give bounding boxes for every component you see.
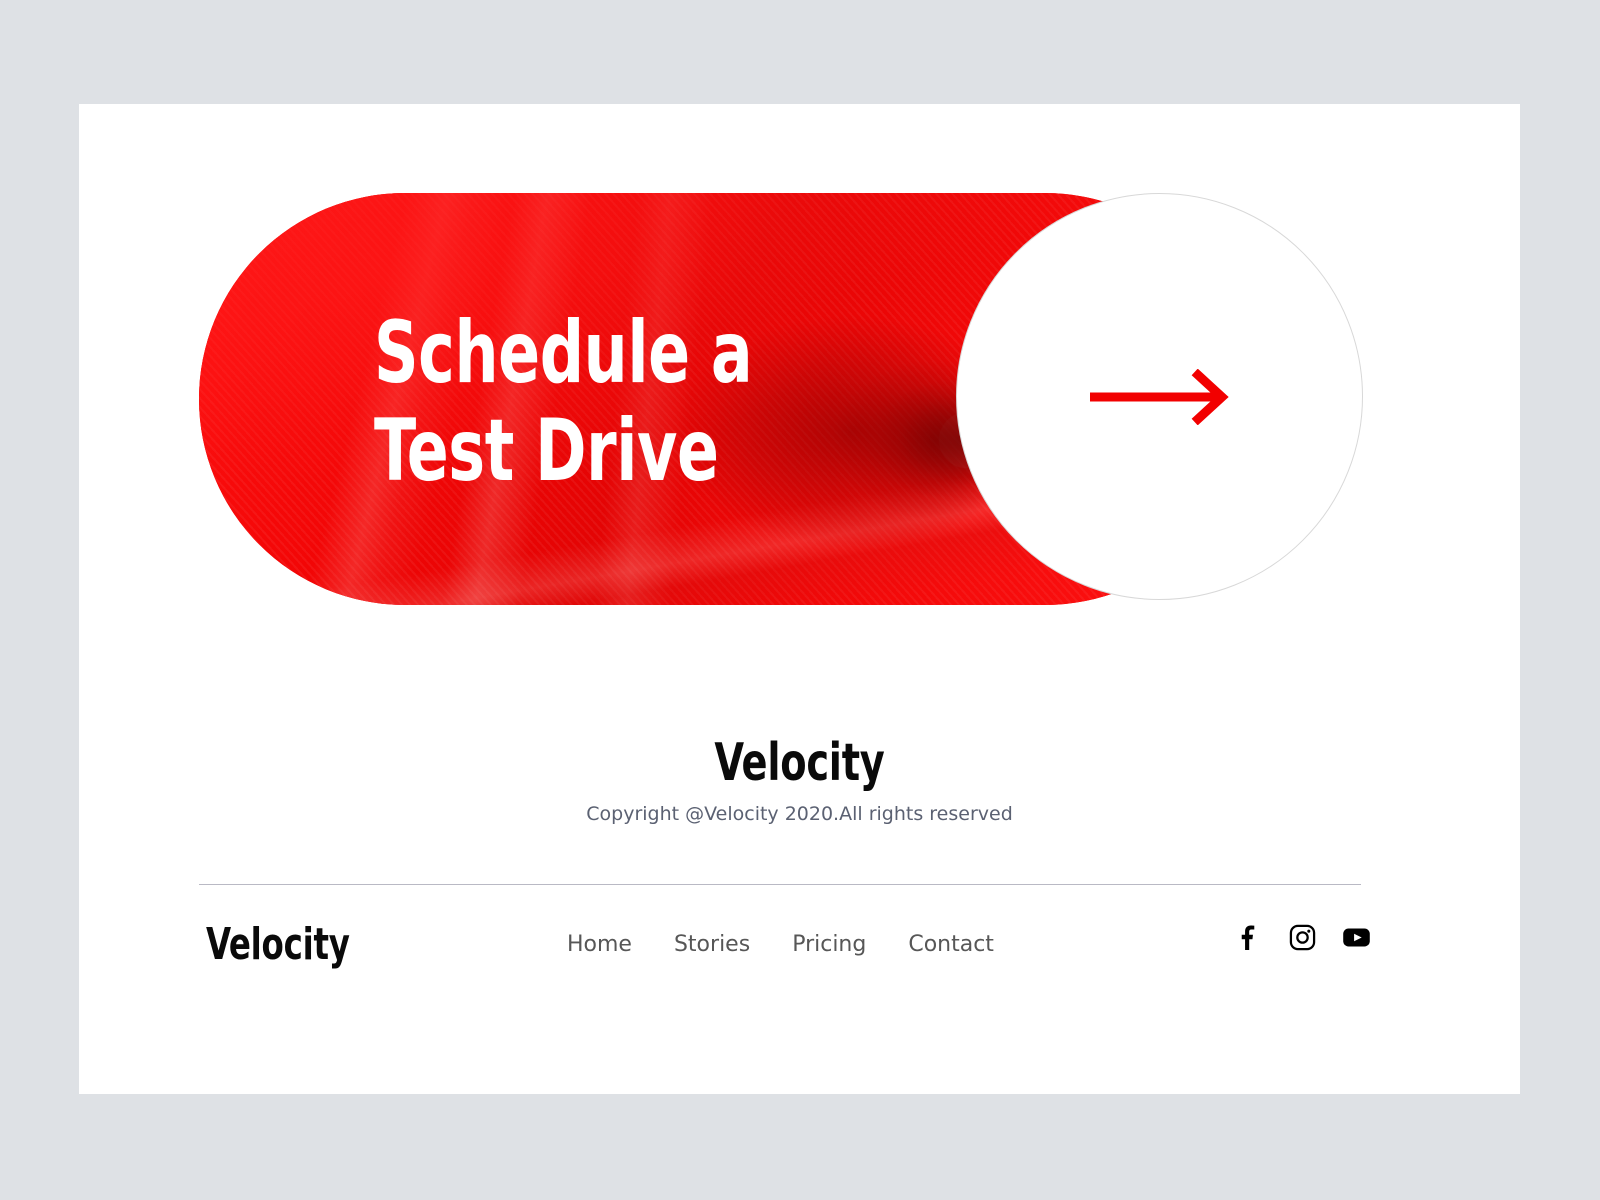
- brand-name: Velocity: [209, 734, 1391, 792]
- page-card: Schedule a Test Drive Velocity Copyright…: [79, 104, 1520, 1094]
- youtube-icon[interactable]: [1341, 922, 1371, 952]
- facebook-icon[interactable]: [1233, 922, 1263, 952]
- instagram-icon[interactable]: [1287, 922, 1317, 952]
- footer-nav: Home Stories Pricing Contact: [567, 930, 994, 960]
- footer-bar: Velocity Home Stories Pricing Contact: [199, 904, 1361, 1024]
- arrow-right-icon: [1088, 369, 1232, 425]
- cta-arrow-button[interactable]: [956, 193, 1363, 600]
- footer-divider: [199, 884, 1361, 885]
- hero-section: Schedule a Test Drive: [79, 104, 1520, 664]
- footer-logo[interactable]: Velocity: [206, 919, 350, 971]
- footer-social-links: [1233, 922, 1371, 952]
- footer-nav-link-contact[interactable]: Contact: [908, 930, 994, 960]
- cta-heading: Schedule a Test Drive: [374, 304, 870, 500]
- copyright-text: Copyright @Velocity 2020.All rights rese…: [79, 802, 1520, 826]
- brand-block: Velocity Copyright @Velocity 2020.All ri…: [79, 734, 1520, 826]
- footer-nav-link-pricing[interactable]: Pricing: [792, 930, 866, 960]
- footer-nav-link-home[interactable]: Home: [567, 930, 632, 960]
- footer-nav-link-stories[interactable]: Stories: [674, 930, 750, 960]
